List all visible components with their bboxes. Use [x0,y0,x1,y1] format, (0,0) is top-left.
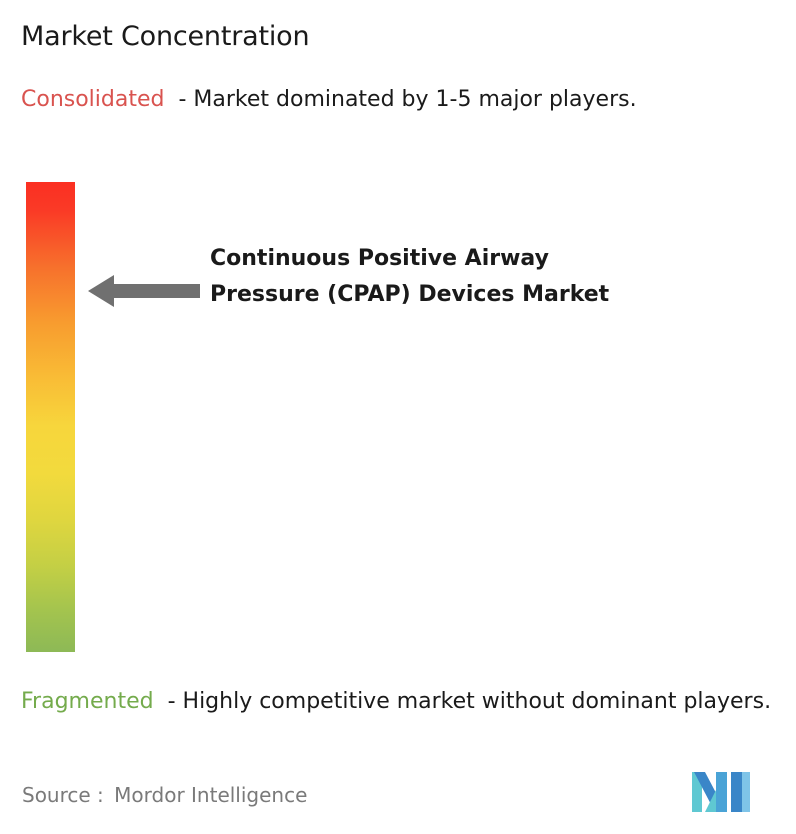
legend-fragmented: Fragmented - Highly competitive market w… [21,686,786,717]
source-line: Source : Mordor Intelligence [22,783,307,807]
legend-consolidated: Consolidated - Market dominated by 1-5 m… [21,84,761,115]
legend-fragmented-description: - Highly competitive market without domi… [168,689,771,714]
source-label: Source : [22,783,104,807]
callout-arrow-left [88,272,200,310]
mordor-intelligence-logo [692,770,752,814]
source-value: Mordor Intelligence [114,783,307,807]
legend-fragmented-keyword: Fragmented [21,689,154,714]
page-title: Market Concentration [21,21,309,52]
callout-market-label: Continuous Positive Airway Pressure (CPA… [210,241,610,312]
legend-consolidated-description: - Market dominated by 1-5 major players. [178,87,636,112]
legend-consolidated-keyword: Consolidated [21,87,164,112]
concentration-scale-bar [26,182,75,652]
